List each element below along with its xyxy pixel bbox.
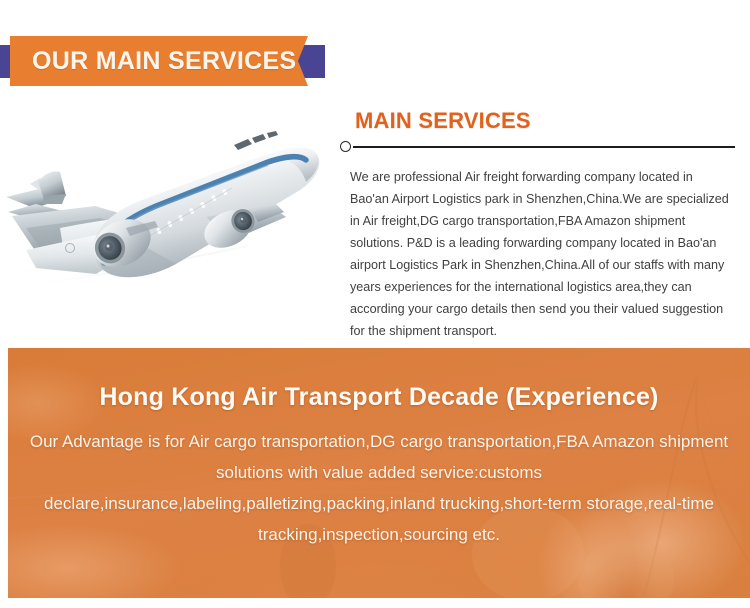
promo-paragraph: Our Advantage is for Air cargo transport… (29, 426, 729, 550)
circle-marker-icon (340, 141, 351, 152)
promo-content: Hong Kong Air Transport Decade (Experien… (8, 348, 750, 550)
promo-panel: Hong Kong Air Transport Decade (Experien… (8, 348, 750, 598)
main-services-copy: MAIN SERVICES We are professional Air fr… (340, 108, 740, 342)
main-services-section: MAIN SERVICES We are professional Air fr… (0, 100, 750, 345)
banner-orange-tab: OUR MAIN SERVICES (10, 36, 308, 86)
page-header-banner: OUR MAIN SERVICES (0, 0, 750, 110)
promo-heading: Hong Kong Air Transport Decade (Experien… (8, 383, 750, 412)
airplane-illustration (0, 100, 330, 335)
banner-title: OUR MAIN SERVICES (32, 47, 296, 76)
horizontal-rule (353, 146, 735, 148)
main-services-heading: MAIN SERVICES (355, 108, 740, 134)
main-services-paragraph: We are professional Air freight forwardi… (350, 166, 735, 342)
heading-rule (340, 138, 740, 156)
